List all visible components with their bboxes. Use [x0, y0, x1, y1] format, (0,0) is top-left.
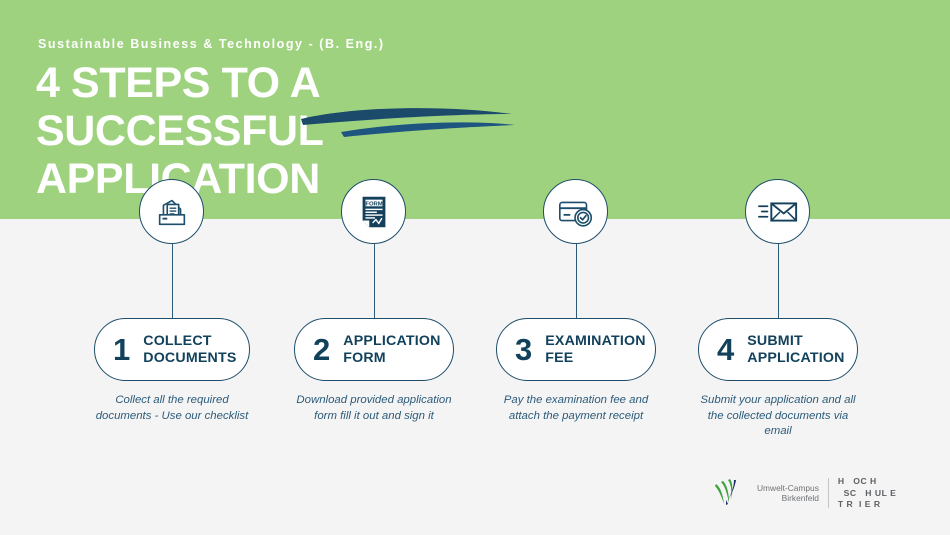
step-4-card[interactable]: 4 Submit Application Submit your applica… — [698, 318, 858, 440]
step-3-card[interactable]: 3 Examination Fee Pay the examination fe… — [496, 318, 656, 424]
step-1-description: Collect all the required documents - Use… — [94, 393, 250, 424]
wordmark-row-hoch: H OC H — [838, 476, 896, 488]
folder-documents-icon — [153, 193, 191, 231]
step-1-number: 1 — [113, 334, 130, 365]
step-3-connector — [576, 244, 577, 318]
step-3-description: Pay the examination fee and attach the p… — [496, 393, 656, 424]
svg-text:FORM: FORM — [365, 201, 382, 207]
logo-name-line1: Umwelt-Campus — [757, 483, 819, 494]
step-2-number: 2 — [313, 334, 330, 365]
step-1-connector — [172, 244, 173, 318]
wordmark-row-schule: SC H UL E — [838, 488, 896, 500]
umwelt-campus-leaf-logo — [714, 478, 748, 508]
wordmark-row-trier: T R I E R — [838, 499, 896, 511]
envelope-send-icon — [757, 196, 799, 228]
step-4-icon-circle — [745, 179, 810, 244]
step-1-icon-circle — [139, 179, 204, 244]
step-4-pill[interactable]: 4 Submit Application — [698, 318, 858, 381]
step-2-connector — [374, 244, 375, 318]
step-2-pill[interactable]: 2 Application Form — [294, 318, 454, 381]
logo-campus-name: Umwelt-Campus Birkenfeld — [757, 483, 819, 504]
step-1-title: Collect Documents — [143, 333, 249, 367]
step-2-icon-circle: FORM — [341, 179, 406, 244]
logo-divider — [828, 478, 829, 508]
step-3-number: 3 — [515, 334, 532, 365]
step-4-description: Submit your application and all the coll… — [698, 393, 858, 440]
step-1-pill[interactable]: 1 Collect Documents — [94, 318, 250, 381]
step-3-pill[interactable]: 3 Examination Fee — [496, 318, 656, 381]
brush-underline-icon — [296, 103, 518, 145]
step-4-connector — [778, 244, 779, 318]
step-4-title: Submit Application — [747, 333, 857, 367]
infographic-slide: Sustainable Business & Technology - (B. … — [0, 0, 950, 535]
university-wordmark: H OC H SC H UL E T R I E R — [838, 476, 896, 511]
step-2-description: Download provided application form fill … — [294, 393, 454, 424]
form-document-icon: FORM — [357, 193, 391, 231]
step-3-title: Examination Fee — [545, 333, 655, 367]
institution-logo: Umwelt-Campus Birkenfeld H OC H SC H UL … — [714, 476, 896, 511]
step-3-icon-circle — [543, 179, 608, 244]
credit-card-check-icon — [556, 194, 596, 230]
program-eyebrow: Sustainable Business & Technology - (B. … — [38, 37, 385, 51]
step-4-number: 4 — [717, 334, 734, 365]
step-2-card[interactable]: 2 Application Form Download provided app… — [294, 318, 454, 424]
logo-name-line2: Birkenfeld — [757, 493, 819, 504]
step-2-title: Application Form — [343, 333, 453, 367]
step-1-card[interactable]: 1 Collect Documents Collect all the requ… — [94, 318, 250, 424]
